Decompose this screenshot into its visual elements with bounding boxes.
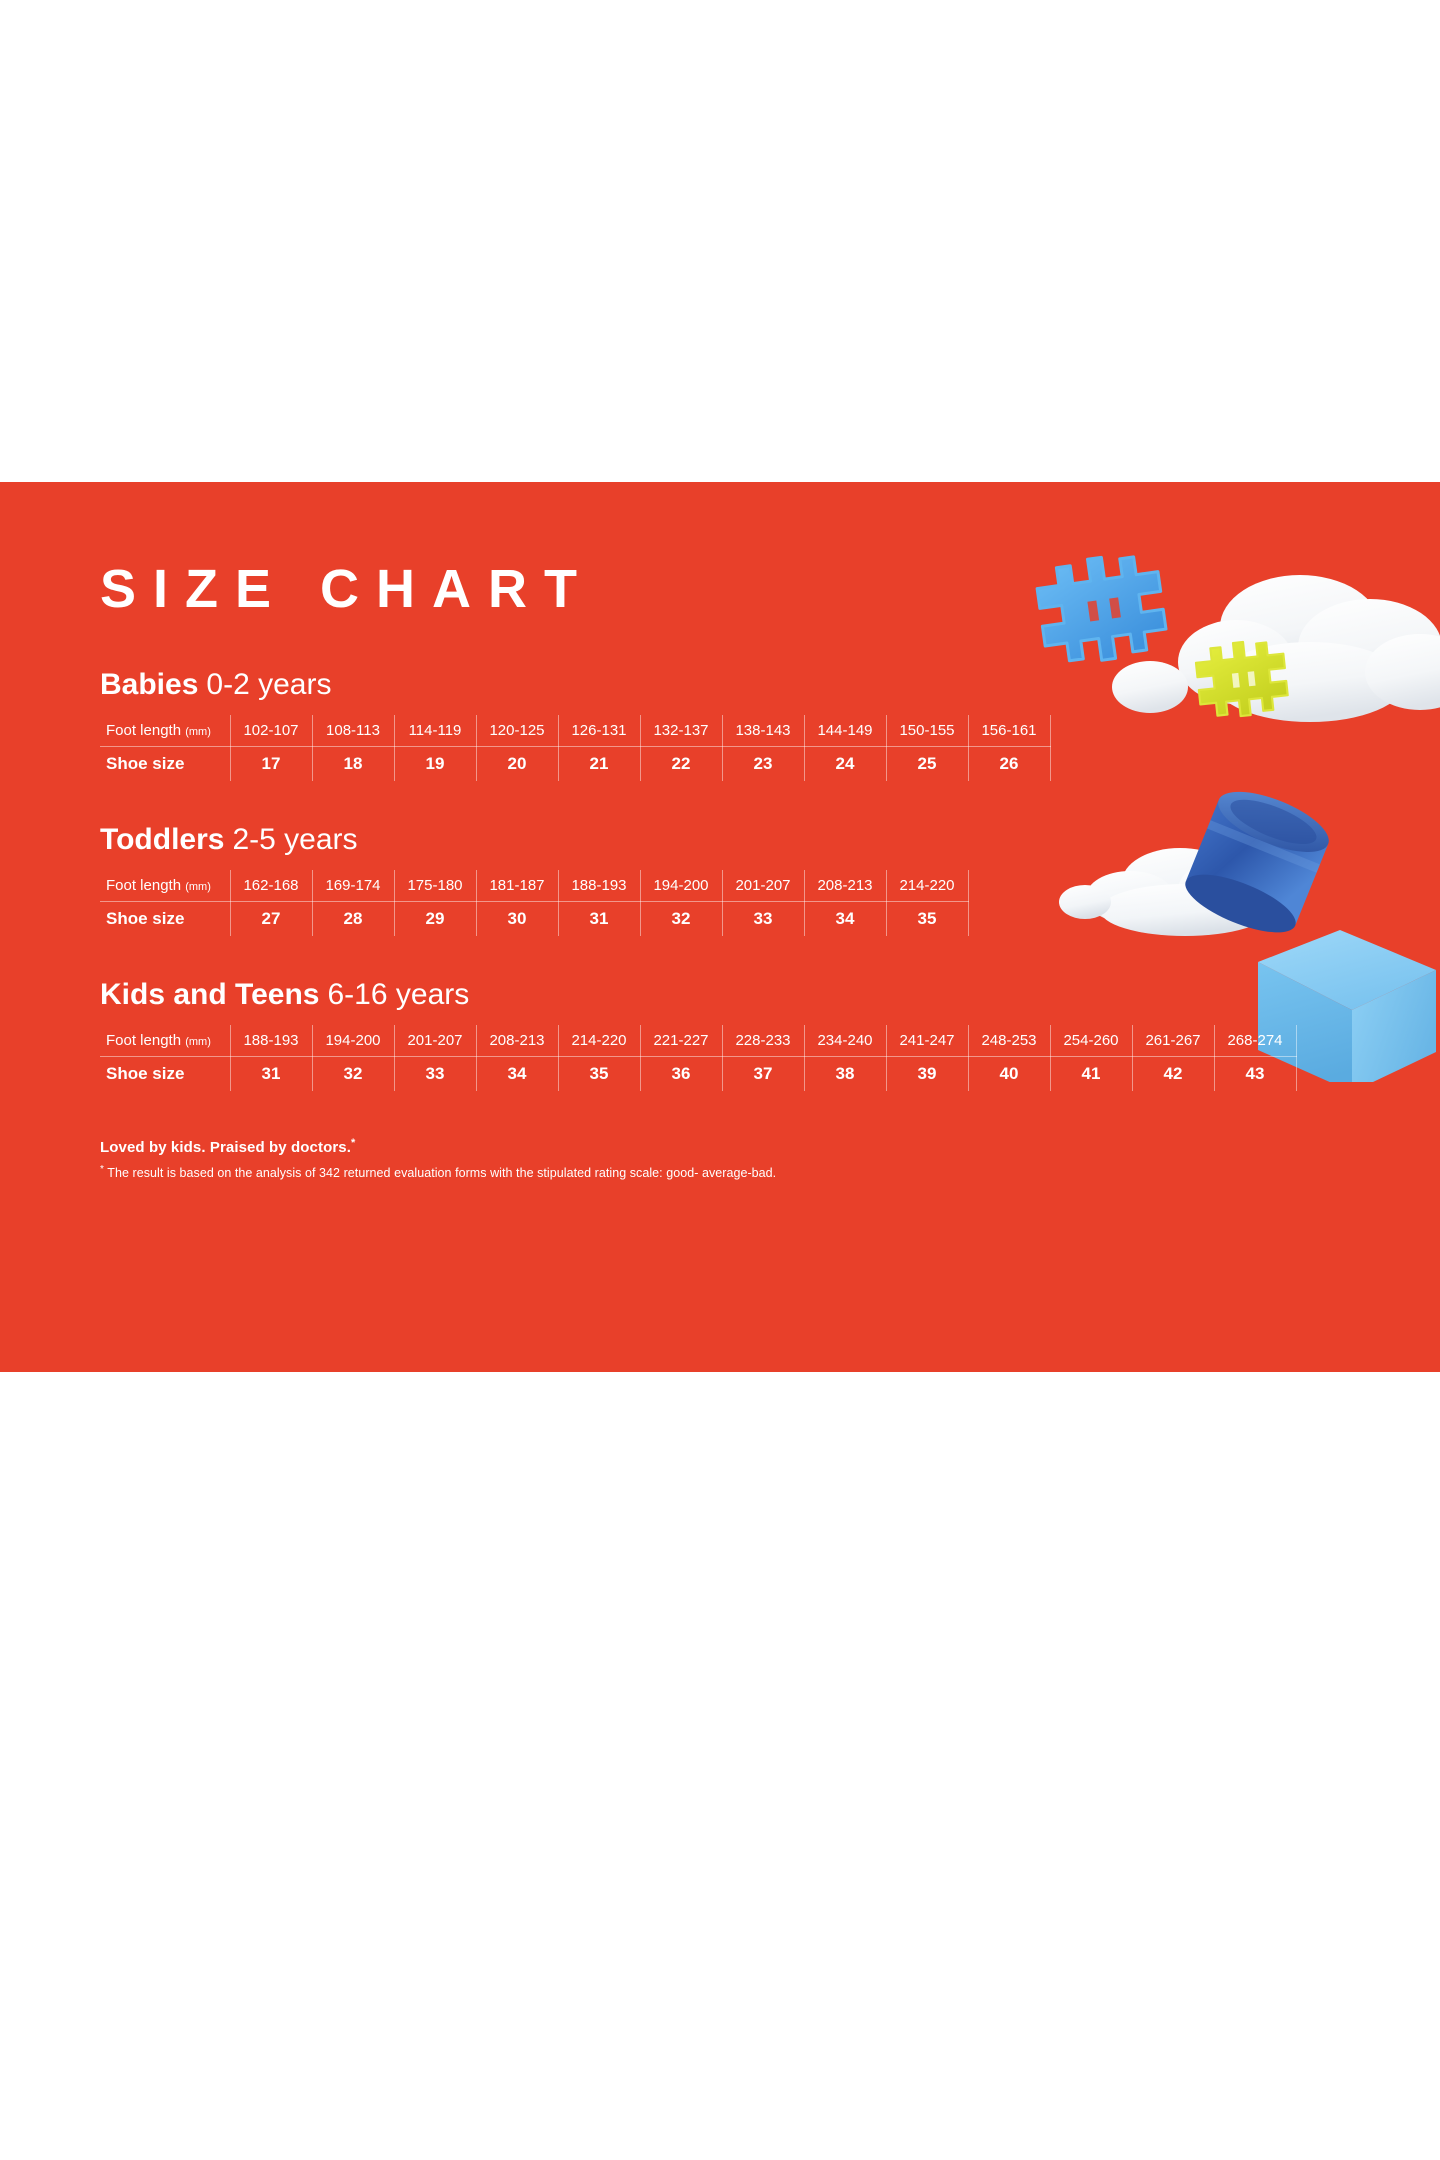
row-label-text: Foot length xyxy=(106,722,181,739)
row-label-text: Foot length xyxy=(106,877,181,894)
cell-shoe-size: 34 xyxy=(804,902,886,937)
table-row-foot-length: Foot length (mm) 188-193 194-200 201-207… xyxy=(100,1025,1296,1057)
section-group-label: Toddlers xyxy=(100,823,224,856)
table-row-shoe-size: Shoe size 17 18 19 20 21 22 23 24 25 26 xyxy=(100,747,1050,782)
section-age-label: 6-16 years xyxy=(328,978,470,1011)
cell-foot-length: 169-174 xyxy=(312,870,394,902)
cell-foot-length: 248-253 xyxy=(968,1025,1050,1057)
section-age-label: 0-2 years xyxy=(206,668,331,701)
cell-shoe-size: 17 xyxy=(230,747,312,782)
cell-shoe-size: 43 xyxy=(1214,1057,1296,1092)
cell-shoe-size: 33 xyxy=(394,1057,476,1092)
size-table-kids-and-teens: Foot length (mm) 188-193 194-200 201-207… xyxy=(100,1025,1297,1091)
footer-tagline-marker: * xyxy=(351,1137,355,1149)
cell-shoe-size: 31 xyxy=(558,902,640,937)
row-label-shoe-size: Shoe size xyxy=(100,747,230,782)
cell-shoe-size: 33 xyxy=(722,902,804,937)
footer: Loved by kids. Praised by doctors.* * Th… xyxy=(100,1137,1340,1180)
cell-shoe-size: 24 xyxy=(804,747,886,782)
cell-foot-length: 126-131 xyxy=(558,715,640,747)
size-table-babies: Foot length (mm) 102-107 108-113 114-119… xyxy=(100,715,1051,781)
cell-shoe-size: 36 xyxy=(640,1057,722,1092)
cell-shoe-size: 31 xyxy=(230,1057,312,1092)
cell-foot-length: 108-113 xyxy=(312,715,394,747)
cell-foot-length: 175-180 xyxy=(394,870,476,902)
cell-shoe-size: 29 xyxy=(394,902,476,937)
page-title: SIZE CHART xyxy=(100,562,1340,616)
cell-foot-length: 208-213 xyxy=(804,870,886,902)
cell-foot-length: 138-143 xyxy=(722,715,804,747)
cell-shoe-size: 22 xyxy=(640,747,722,782)
cell-foot-length: 261-267 xyxy=(1132,1025,1214,1057)
footer-note-marker: * xyxy=(100,1164,104,1175)
cell-foot-length: 194-200 xyxy=(312,1025,394,1057)
cell-shoe-size: 35 xyxy=(558,1057,640,1092)
cell-shoe-size: 20 xyxy=(476,747,558,782)
row-label-text: Foot length xyxy=(106,1032,181,1049)
cell-foot-length: 120-125 xyxy=(476,715,558,747)
section-toddlers: Toddlers2-5 years Foot length (mm) 162-1… xyxy=(100,823,1340,936)
table-row-shoe-size: Shoe size 31 32 33 34 35 36 37 38 39 40 … xyxy=(100,1057,1296,1092)
section-heading-kids-and-teens: Kids and Teens6-16 years xyxy=(100,978,1340,1011)
row-label-foot-length: Foot length (mm) xyxy=(100,715,230,747)
cell-shoe-size: 30 xyxy=(476,902,558,937)
row-label-shoe-size: Shoe size xyxy=(100,902,230,937)
row-label-foot-length: Foot length (mm) xyxy=(100,1025,230,1057)
size-chart-page: SIZE CHART Babies0-2 years Foot length (… xyxy=(0,0,1440,2160)
cell-foot-length: 234-240 xyxy=(804,1025,886,1057)
cell-shoe-size: 34 xyxy=(476,1057,558,1092)
cell-shoe-size: 37 xyxy=(722,1057,804,1092)
section-babies: Babies0-2 years Foot length (mm) 102-107… xyxy=(100,668,1340,781)
footer-tagline: Loved by kids. Praised by doctors.* xyxy=(100,1137,1340,1156)
cell-foot-length: 241-247 xyxy=(886,1025,968,1057)
cell-shoe-size: 32 xyxy=(312,1057,394,1092)
cell-foot-length: 254-260 xyxy=(1050,1025,1132,1057)
row-label-unit: (mm) xyxy=(185,726,211,738)
cell-shoe-size: 41 xyxy=(1050,1057,1132,1092)
cell-foot-length: 102-107 xyxy=(230,715,312,747)
section-kids-and-teens: Kids and Teens6-16 years Foot length (mm… xyxy=(100,978,1340,1091)
size-table-toddlers: Foot length (mm) 162-168 169-174 175-180… xyxy=(100,870,969,936)
row-label-shoe-size: Shoe size xyxy=(100,1057,230,1092)
cell-shoe-size: 42 xyxy=(1132,1057,1214,1092)
footer-note-text: The result is based on the analysis of 3… xyxy=(107,1166,776,1180)
cell-shoe-size: 23 xyxy=(722,747,804,782)
cell-foot-length: 156-161 xyxy=(968,715,1050,747)
cell-shoe-size: 35 xyxy=(886,902,968,937)
cell-foot-length: 188-193 xyxy=(230,1025,312,1057)
chart-content: SIZE CHART Babies0-2 years Foot length (… xyxy=(100,482,1340,1180)
section-heading-toddlers: Toddlers2-5 years xyxy=(100,823,1340,856)
cell-shoe-size: 25 xyxy=(886,747,968,782)
table-row-foot-length: Foot length (mm) 102-107 108-113 114-119… xyxy=(100,715,1050,747)
cell-foot-length: 144-149 xyxy=(804,715,886,747)
table-row-shoe-size: Shoe size 27 28 29 30 31 32 33 34 35 xyxy=(100,902,968,937)
cell-foot-length: 201-207 xyxy=(722,870,804,902)
cell-shoe-size: 18 xyxy=(312,747,394,782)
cell-shoe-size: 19 xyxy=(394,747,476,782)
row-label-unit: (mm) xyxy=(185,1036,211,1048)
row-label-foot-length: Foot length (mm) xyxy=(100,870,230,902)
table-row-foot-length: Foot length (mm) 162-168 169-174 175-180… xyxy=(100,870,968,902)
cell-foot-length: 181-187 xyxy=(476,870,558,902)
cell-shoe-size: 38 xyxy=(804,1057,886,1092)
cell-foot-length: 150-155 xyxy=(886,715,968,747)
footer-tagline-text: Loved by kids. Praised by doctors. xyxy=(100,1139,351,1156)
cell-shoe-size: 26 xyxy=(968,747,1050,782)
cell-foot-length: 228-233 xyxy=(722,1025,804,1057)
cell-foot-length: 162-168 xyxy=(230,870,312,902)
cell-foot-length: 221-227 xyxy=(640,1025,722,1057)
cell-shoe-size: 32 xyxy=(640,902,722,937)
cell-foot-length: 214-220 xyxy=(886,870,968,902)
cell-shoe-size: 28 xyxy=(312,902,394,937)
cell-shoe-size: 27 xyxy=(230,902,312,937)
cell-shoe-size: 21 xyxy=(558,747,640,782)
footer-note: * The result is based on the analysis of… xyxy=(100,1164,1340,1180)
cell-foot-length: 201-207 xyxy=(394,1025,476,1057)
cell-shoe-size: 39 xyxy=(886,1057,968,1092)
size-chart-panel: SIZE CHART Babies0-2 years Foot length (… xyxy=(0,482,1440,1372)
cell-foot-length: 268-274 xyxy=(1214,1025,1296,1057)
row-label-unit: (mm) xyxy=(185,881,211,893)
cell-foot-length: 194-200 xyxy=(640,870,722,902)
cell-foot-length: 188-193 xyxy=(558,870,640,902)
section-group-label: Babies xyxy=(100,668,198,701)
cell-foot-length: 214-220 xyxy=(558,1025,640,1057)
section-age-label: 2-5 years xyxy=(232,823,357,856)
cell-foot-length: 208-213 xyxy=(476,1025,558,1057)
section-group-label: Kids and Teens xyxy=(100,978,320,1011)
cell-foot-length: 114-119 xyxy=(394,715,476,747)
section-heading-babies: Babies0-2 years xyxy=(100,668,1340,701)
cell-foot-length: 132-137 xyxy=(640,715,722,747)
cell-shoe-size: 40 xyxy=(968,1057,1050,1092)
